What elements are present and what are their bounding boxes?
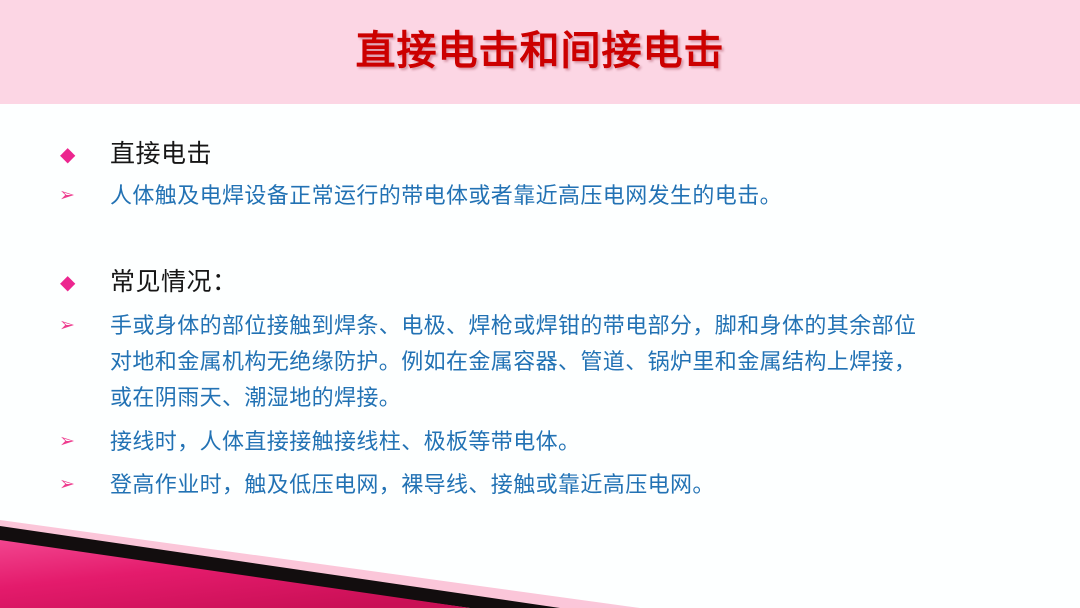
bullet-text-line-1: 手或身体的部位接触到焊条、电极、焊枪或焊钳的带电部分，脚和身体的其余部位 xyxy=(110,308,1052,344)
bullet-level2-contact-live-parts: ➢ 手或身体的部位接触到焊条、电极、焊枪或焊钳的带电部分，脚和身体的其余部位 对… xyxy=(0,308,1080,416)
bullet-row: ➢ 人体触及电焊设备正常运行的带电体或者靠近高压电网发生的电击。 xyxy=(0,178,1080,214)
bullet-text-line-3: 或在阴雨天、潮湿地的焊接。 xyxy=(110,380,1052,416)
bullet-level2-wiring-contact: ➢ 接线时，人体直接接触接线柱、极板等带电体。 xyxy=(0,424,1080,460)
diamond-bullet-icon: ◆ xyxy=(60,261,94,305)
bullet-text: 直接电击 xyxy=(110,132,1052,176)
bullet-row: ➢ 手或身体的部位接触到焊条、电极、焊枪或焊钳的带电部分，脚和身体的其余部位 对… xyxy=(0,308,1080,416)
bullet-text: 常见情况： xyxy=(110,260,1052,304)
bullet-text: 接线时，人体直接接触接线柱、极板等带电体。 xyxy=(110,424,1052,460)
slide-canvas: 直接电击和间接电击 ◆ 直接电击 ➢ 人体触及电焊设备正常运行的带电体或者靠近高… xyxy=(0,0,1080,608)
bullet-level2-direct-shock-definition: ➢ 人体触及电焊设备正常运行的带电体或者靠近高压电网发生的电击。 xyxy=(0,178,1080,214)
page-title: 直接电击和间接电击 xyxy=(0,24,1080,78)
bullet-text: 登高作业时，触及低压电网，裸导线、接触或靠近高压电网。 xyxy=(110,467,1052,503)
bullet-row: ◆ 常见情况： xyxy=(0,260,1080,304)
bullet-row: ➢ 接线时，人体直接接触接线柱、极板等带电体。 xyxy=(0,424,1080,460)
arrow-bullet-icon: ➢ xyxy=(59,308,93,344)
bullet-text-line-2: 对地和金属机构无绝缘防护。例如在金属容器、管道、锅炉里和金属结构上焊接， xyxy=(110,344,1052,380)
arrow-bullet-icon: ➢ xyxy=(59,467,93,503)
bullet-level2-climbing-work: ➢ 登高作业时，触及低压电网，裸导线、接触或靠近高压电网。 xyxy=(0,467,1080,503)
slide-body: ◆ 直接电击 ➢ 人体触及电焊设备正常运行的带电体或者靠近高压电网发生的电击。 … xyxy=(0,104,1080,608)
bullet-level1-direct-shock: ◆ 直接电击 xyxy=(0,132,1080,176)
diamond-bullet-icon: ◆ xyxy=(60,133,94,177)
bullet-row: ➢ 登高作业时，触及低压电网，裸导线、接触或靠近高压电网。 xyxy=(0,467,1080,503)
bullet-row: ◆ 直接电击 xyxy=(0,132,1080,176)
bullet-level1-common-situations: ◆ 常见情况： xyxy=(0,260,1080,304)
arrow-bullet-icon: ➢ xyxy=(59,178,93,214)
arrow-bullet-icon: ➢ xyxy=(59,424,93,460)
bullet-text: 人体触及电焊设备正常运行的带电体或者靠近高压电网发生的电击。 xyxy=(110,178,1052,214)
